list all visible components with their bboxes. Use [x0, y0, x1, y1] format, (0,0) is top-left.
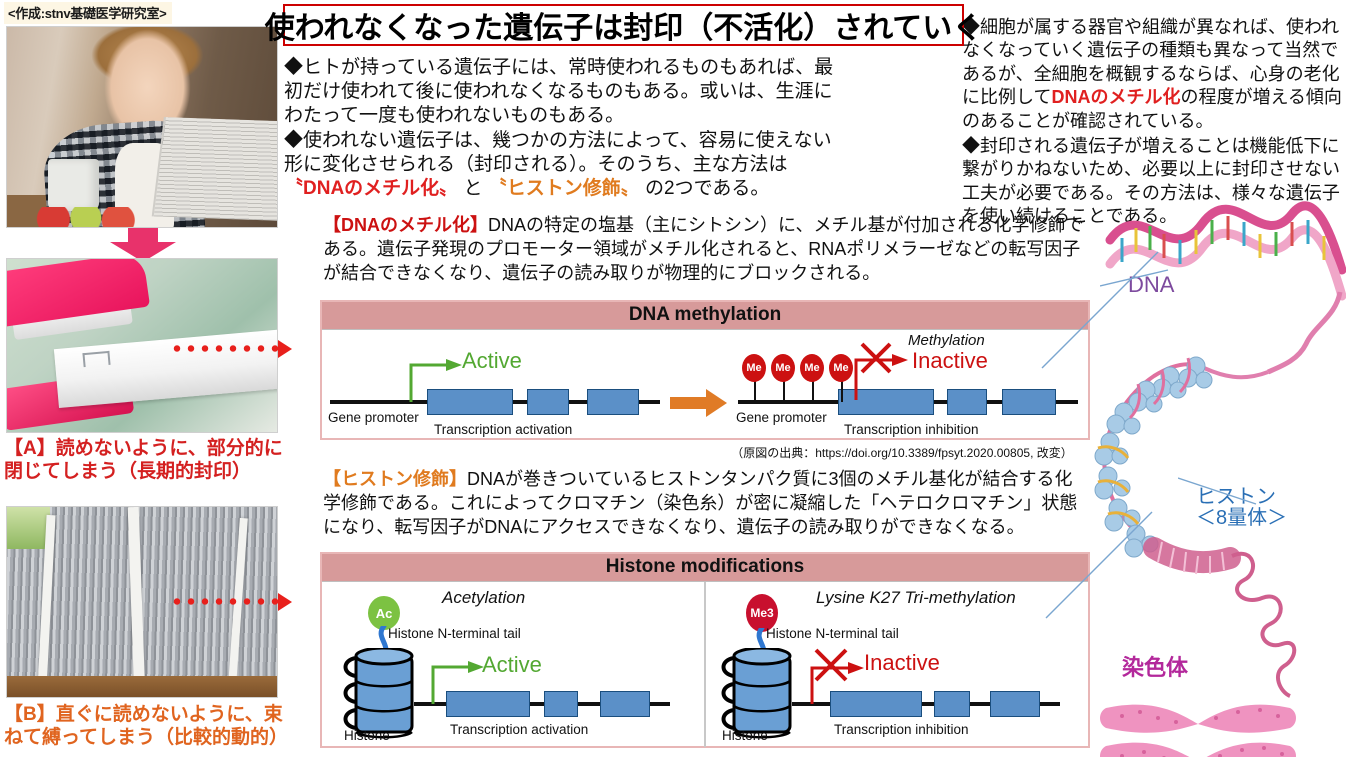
me-stem [783, 380, 785, 402]
connector-dots-a [170, 345, 280, 352]
photo-woman-reading-newspaper-art [7, 27, 277, 227]
exon-k27-2 [934, 691, 970, 717]
exon-acetyl-3 [600, 691, 650, 717]
exon-active-2 [527, 389, 569, 415]
histone-octamer-label: ヒストン ＜8量体＞ [1196, 487, 1287, 529]
acetyl-group-icon: Ac [368, 596, 400, 630]
transcription-blocked-arrow-icon [850, 338, 912, 402]
methylation-annotation: Methylation [908, 332, 985, 349]
page-title: 使われなくなった遺伝子は封印（不活化）されていく [265, 3, 983, 47]
exon-acetyl-2 [544, 691, 578, 717]
intro-p2-part-a: ◆使われない遺伝子は、幾つかの方法によって、容易に使えない形に変化させられる（封… [284, 130, 832, 175]
histone-modifications-panel: Histone modifications Acetylation Ac His… [320, 552, 1090, 748]
exon-inactive-2 [947, 389, 987, 415]
chromosome-label: 染色体 [1122, 650, 1188, 682]
photo1-newspaper [152, 117, 278, 221]
histone-tail-label-right: Histone N-terminal tail [766, 626, 899, 641]
credit-tag: <作成:stnv基礎医学研究室> [4, 2, 172, 24]
caption-b: 【B】直ぐに読めないように、束ねて縛ってしまう（比較的動的） [4, 703, 288, 749]
state-label-active: Active [462, 348, 522, 374]
photo3-strap [128, 507, 146, 697]
connector-arrowhead-b [278, 593, 292, 611]
histone-octamer-label-line1: ヒストン [1196, 487, 1287, 508]
transcription-activation-label-histone: Transcription activation [450, 722, 588, 737]
keyword-histone-modification: 〝ヒストン修飾〟 [488, 178, 640, 199]
transcription-activation-label: Transcription activation [434, 422, 572, 437]
histone-octamer-label-line2: ＜8量体＞ [1196, 508, 1287, 529]
intro-paragraph-2: ◆使われない遺伝子は、幾つかの方法によって、容易に使えない形に変化させられる（封… [284, 129, 836, 201]
methyl-group-icon: Me [771, 354, 795, 382]
me-stem [812, 380, 814, 402]
k27-subtitle: Lysine K27 Tri-methylation [816, 588, 1016, 608]
dna-methylation-diagram: Active Gene promoter Transcription activ… [322, 330, 1088, 439]
histone-diagrams: Acetylation Ac Histone N-terminal tail [322, 582, 1088, 747]
me-stem [754, 380, 756, 402]
state-label-k27: Inactive [864, 650, 940, 676]
transcription-blocked-arrow-icon [806, 644, 868, 706]
histone-tail-label-left: Histone N-terminal tail [388, 626, 521, 641]
caption-a: 【A】読めないように、部分的に閉じてしまう（長期的封印） [4, 437, 288, 483]
transcription-inhibition-label: Transcription inhibition [844, 422, 979, 437]
intro-paragraphs: ◆ヒトが持っている遺伝子には、常時使われるものもあれば、最初だけ使われて後に使わ… [284, 56, 836, 202]
photo2-staple [82, 351, 110, 367]
dna-packaging-illustration: DNA ヒストン ＜8量体＞ 染色体 [1092, 200, 1346, 757]
histone-lead: 【ヒストン修飾】 [323, 469, 467, 489]
gene-promoter-label-inactive: Gene promoter [736, 410, 827, 425]
methylation-lead: 【DNAのメチル化】 [323, 215, 488, 235]
nucleosome-beads-icon [1095, 357, 1212, 557]
process-arrow-icon [670, 388, 728, 418]
histone-label-right: Histone [722, 728, 768, 743]
transcription-inhibition-label-histone: Transcription inhibition [834, 722, 969, 737]
chromosome-icon [1100, 705, 1296, 757]
page-title-box: 使われなくなった遺伝子は封印（不活化）されていく [283, 4, 964, 46]
histone-k27-methylation-diagram: Lysine K27 Tri-methylation Me3 Histone N… [706, 582, 1088, 747]
photo3-window [7, 507, 50, 549]
acetylation-subtitle: Acetylation [442, 588, 525, 608]
keyword-dna-methylation: 〝DNAのメチル化〟 [284, 178, 458, 199]
photo-woman-reading-newspaper [6, 26, 278, 228]
histone-panel-title: Histone modifications [322, 554, 1088, 582]
transcription-start-arrow-active [408, 358, 470, 404]
dna-label: DNA [1128, 272, 1174, 298]
me-stem [841, 380, 843, 402]
photo1-mug [48, 159, 99, 211]
intro-p2-part-c: の2つである。 [640, 178, 770, 199]
intro-p2-part-b: と [458, 178, 488, 199]
histone-acetylation-diagram: Acetylation Ac Histone N-terminal tail [322, 582, 706, 747]
gene-promoter-label-active: Gene promoter [328, 410, 419, 425]
down-arrow-icon [108, 228, 178, 262]
dna-methylation-panel-title: DNA methylation [322, 302, 1088, 330]
methyl-group-icon: Me [800, 354, 824, 382]
exon-k27-3 [990, 691, 1040, 717]
right-paragraph-1: ◆細胞が属する器官や組織が異なれば、使われなくなっていく遺伝子の種類も異なって当… [962, 16, 1346, 133]
connector-arrowhead-a [278, 340, 292, 358]
histone-octamer-icon-left [340, 648, 426, 740]
state-label-acetyl: Active [482, 652, 542, 678]
connector-dots-b [170, 598, 280, 605]
methylation-source-citation: （原図の出典：https://doi.org/10.3389/fpsyt.202… [712, 444, 1092, 461]
histone-octamer-icon-right [718, 648, 804, 740]
exon-active-3 [587, 389, 639, 415]
intro-paragraph-1: ◆ヒトが持っている遺伝子には、常時使われるものもあれば、最初だけ使われて後に使わ… [284, 56, 836, 128]
methylation-description: 【DNAのメチル化】DNAの特定の塩基（主にシトシン）に、メチル基が付加される化… [323, 214, 1089, 285]
state-label-inactive: Inactive [912, 348, 988, 374]
methyl-group-icon: Me [742, 354, 766, 382]
histone-label-left: Histone [344, 728, 390, 743]
histone-description: 【ヒストン修飾】DNAが巻きついているヒストンタンパク質に3個のメチル基化が結合… [323, 468, 1089, 539]
photo1-fruit-bowl [34, 207, 142, 228]
photo2-paper-stack [53, 329, 278, 408]
dna-methylation-panel: DNA methylation Active Gene promoter Tra… [320, 300, 1090, 440]
keyword-dna-methylation-right: DNAのメチル化 [1051, 87, 1180, 107]
photo3-table [7, 676, 277, 697]
exon-inactive-3 [1002, 389, 1056, 415]
right-top-paragraphs: ◆細胞が属する器官や組織が異なれば、使われなくなっていく遺伝子の種類も異なって当… [962, 16, 1346, 231]
